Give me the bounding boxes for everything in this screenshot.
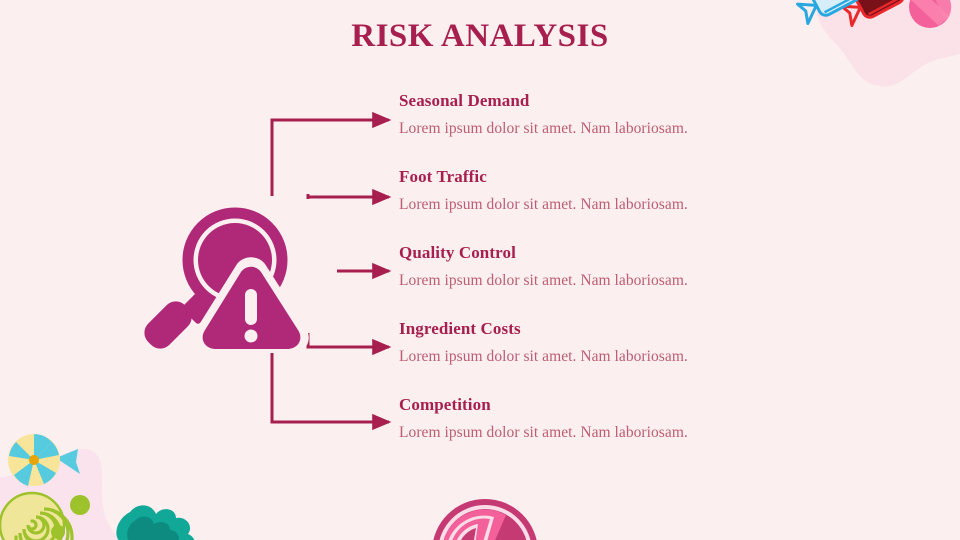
risk-item-description: Lorem ipsum dolor sit amet. Nam laborios… xyxy=(399,424,819,442)
risk-item-seasonal-demand: Seasonal Demand Lorem ipsum dolor sit am… xyxy=(399,92,819,138)
risk-item-title: Quality Control xyxy=(399,244,819,263)
risk-item-title: Competition xyxy=(399,396,819,415)
risk-item-title: Ingredient Costs xyxy=(399,320,819,339)
connector-ingredient-costs xyxy=(308,333,389,347)
risk-item-quality-control: Quality Control Lorem ipsum dolor sit am… xyxy=(399,244,819,290)
connector-seasonal-demand xyxy=(272,120,389,196)
magnifying-glass-warning-icon xyxy=(140,200,320,370)
risk-item-description: Lorem ipsum dolor sit amet. Nam laborios… xyxy=(399,348,819,366)
risk-item-title: Seasonal Demand xyxy=(399,92,819,111)
risk-item-competition: Competition Lorem ipsum dolor sit amet. … xyxy=(399,396,819,442)
slide-root: RISK ANALYSIS xyxy=(0,0,960,540)
exclamation-dot xyxy=(245,330,258,343)
risk-item-title: Foot Traffic xyxy=(399,168,819,187)
risk-item-description: Lorem ipsum dolor sit amet. Nam laborios… xyxy=(399,196,819,214)
risk-item-description: Lorem ipsum dolor sit amet. Nam laborios… xyxy=(399,120,819,138)
risk-item-foot-traffic: Foot Traffic Lorem ipsum dolor sit amet.… xyxy=(399,168,819,214)
connector-foot-traffic xyxy=(308,194,389,197)
exclamation-bar xyxy=(245,289,257,325)
risk-item-description: Lorem ipsum dolor sit amet. Nam laborios… xyxy=(399,272,819,290)
risk-item-ingredient-costs: Ingredient Costs Lorem ipsum dolor sit a… xyxy=(399,320,819,366)
